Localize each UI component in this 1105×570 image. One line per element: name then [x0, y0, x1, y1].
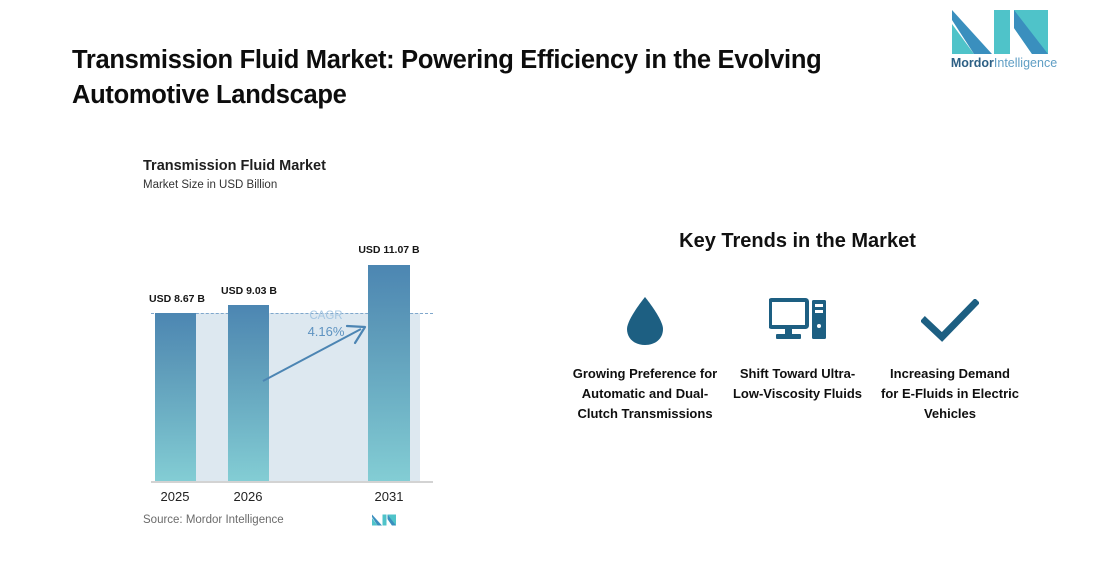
growth-arrow-icon — [261, 313, 371, 383]
trend-label-1: Growing Preference for Automatic and Dua… — [570, 364, 720, 424]
bar-label-2031: USD 11.07 B — [336, 244, 442, 256]
page-title: Transmission Fluid Market: Powering Effi… — [72, 43, 852, 113]
trend-label-2: Shift Toward Ultra-Low-Viscosity Fluids — [733, 364, 863, 404]
chart-subtitle: Market Size in USD Billion — [143, 177, 443, 193]
brand-word-primary: Mordor — [951, 56, 994, 70]
chart-source-text: Source: Mordor Intelligence — [143, 514, 284, 526]
chart-axis-line — [151, 481, 433, 483]
key-trends-panel: Key Trends in the Market Growing Prefere… — [570, 228, 1025, 518]
key-trends-row: Growing Preference for Automatic and Dua… — [570, 290, 1025, 424]
tick-label-2025: 2025 — [145, 489, 205, 504]
trend-item-low-viscosity-fluids: Shift Toward Ultra-Low-Viscosity Fluids — [723, 290, 873, 424]
trend-item-e-fluids-ev: Increasing Demand for E-Fluids in Electr… — [875, 290, 1025, 424]
checkmark-icon — [921, 290, 979, 352]
trend-label-3: Increasing Demand for E-Fluids in Electr… — [880, 364, 1020, 424]
bar-label-2026: USD 9.03 B — [199, 285, 299, 297]
brand-logo: MordorIntelligence — [948, 10, 1060, 72]
brand-word-secondary: Intelligence — [994, 56, 1057, 70]
mordor-m-logo-icon — [948, 10, 1052, 54]
trend-item-automatic-transmissions: Growing Preference for Automatic and Dua… — [570, 290, 720, 424]
desktop-computer-icon — [769, 290, 827, 352]
bar-2025 — [155, 313, 196, 481]
chart-title: Transmission Fluid Market — [143, 157, 443, 175]
chart-plot-area: USD 8.67 B USD 9.03 B USD 11.07 B CAGR 4… — [143, 219, 443, 481]
chart-source-logo-icon — [371, 512, 397, 528]
tick-label-2031: 2031 — [359, 489, 419, 504]
market-size-chart: Transmission Fluid Market Market Size in… — [143, 157, 443, 537]
water-droplet-icon — [623, 290, 667, 352]
tick-label-2026: 2026 — [218, 489, 278, 504]
key-trends-heading: Key Trends in the Market — [570, 228, 1025, 254]
bar-2031 — [368, 265, 410, 481]
brand-wordmark: MordorIntelligence — [948, 56, 1060, 70]
